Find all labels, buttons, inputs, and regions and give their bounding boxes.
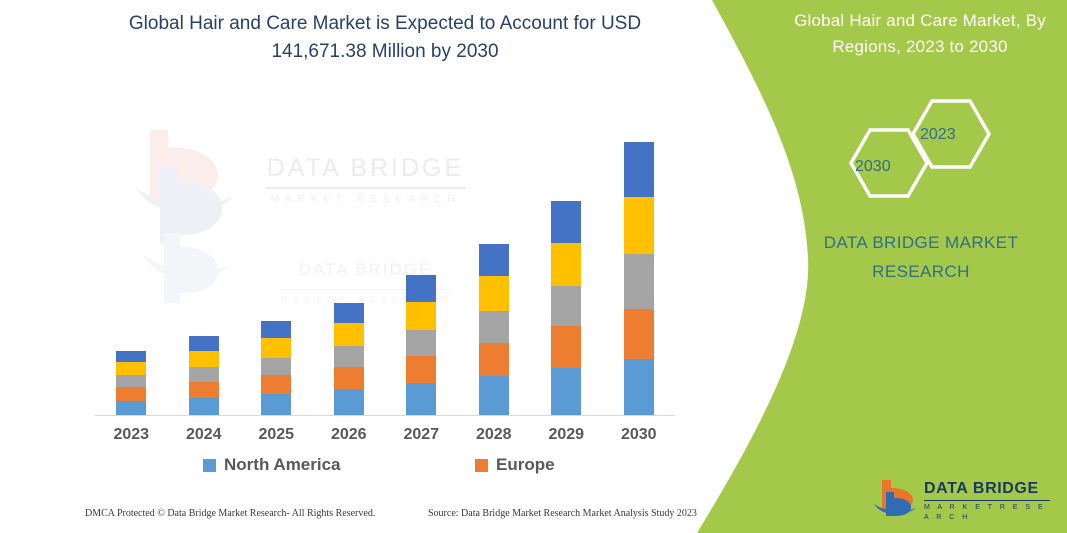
bar-segment (406, 275, 436, 302)
bar-segment (261, 358, 291, 375)
hexagon-2030-label: 2030 (855, 158, 891, 176)
hexagon-badges: 2023 2030 (815, 95, 1015, 205)
bar-segment (261, 338, 291, 357)
bar-segment (116, 362, 146, 375)
x-label-2024: 2024 (174, 426, 234, 444)
footer: DMCA Protected © Data Bridge Market Rese… (0, 506, 700, 528)
x-label-2023: 2023 (101, 426, 161, 444)
bar-segment (334, 389, 364, 415)
bar-segment (624, 254, 654, 309)
bar-segment (334, 346, 364, 367)
bar-segment (261, 375, 291, 393)
bar-segment (624, 197, 654, 254)
x-label-2028: 2028 (464, 426, 524, 444)
x-label-2026: 2026 (319, 426, 379, 444)
bar-segment (189, 351, 219, 367)
legend-swatch-icon (203, 459, 216, 472)
bar-2028[interactable] (479, 244, 509, 415)
bar-segment (624, 142, 654, 197)
bar-segment (551, 243, 581, 287)
bar-2025[interactable] (261, 321, 291, 415)
bar-segment (261, 321, 291, 338)
bar-2027[interactable] (406, 275, 436, 415)
panel-brand-line2: RESEARCH (790, 257, 1052, 286)
legend-item[interactable]: Europe (475, 455, 555, 475)
bar-segment (479, 276, 509, 311)
chart-legend: North AmericaEurope (95, 455, 675, 485)
bar-segment (551, 201, 581, 243)
bar-2030[interactable] (624, 142, 654, 416)
x-label-2027: 2027 (391, 426, 451, 444)
bar-segment (479, 244, 509, 277)
footer-source: Source: Data Bridge Market Research Mark… (428, 508, 697, 519)
infographic-canvas: Global Hair and Care Market, By Regions,… (0, 0, 1067, 533)
legend-swatch-icon (475, 459, 488, 472)
bar-2024[interactable] (189, 336, 219, 415)
footer-copyright: DMCA Protected © Data Bridge Market Rese… (85, 508, 375, 519)
bar-segment (116, 375, 146, 387)
x-label-2030: 2030 (609, 426, 669, 444)
x-axis-line (95, 415, 675, 416)
bar-segment (116, 351, 146, 362)
bar-segment (624, 359, 654, 415)
bar-segment (189, 367, 219, 382)
panel-title: Global Hair and Care Market, By Regions,… (780, 8, 1060, 60)
x-label-2025: 2025 (246, 426, 306, 444)
bar-segment (334, 323, 364, 345)
brand-logo: DATA BRIDGE M A R K E T R E S E A R C H (872, 478, 1052, 520)
bar-segment (406, 330, 436, 356)
stacked-bar-chart (95, 120, 675, 416)
page-title: Global Hair and Care Market is Expected … (120, 10, 650, 66)
bar-2029[interactable] (551, 201, 581, 415)
bar-segment (624, 309, 654, 359)
brand-logo-divider (924, 500, 1050, 501)
legend-label: Europe (496, 455, 555, 475)
bar-segment (116, 401, 146, 415)
brand-logo-mark (872, 478, 920, 518)
brand-logo-sub: M A R K E T R E S E A R C H (924, 503, 1054, 523)
bar-segment (189, 336, 219, 350)
panel-brand: DATA BRIDGE MARKET RESEARCH (790, 228, 1052, 286)
bar-segment (479, 311, 509, 343)
bar-segment (189, 398, 219, 415)
brand-logo-main: DATA BRIDGE (924, 480, 1054, 498)
bar-segment (116, 387, 146, 400)
bar-segment (334, 367, 364, 389)
legend-label: North America (224, 455, 341, 475)
panel-brand-line1: DATA BRIDGE MARKET (790, 228, 1052, 257)
bar-segment (406, 383, 436, 415)
x-axis-labels: 20232024202520262027202820292030 (95, 426, 675, 454)
bar-segment (406, 302, 436, 331)
bar-2026[interactable] (334, 303, 364, 415)
bar-segment (551, 368, 581, 415)
hexagon-2023-label: 2023 (920, 126, 956, 144)
bar-segment (261, 394, 291, 415)
bar-segment (334, 303, 364, 323)
bar-segment (551, 286, 581, 326)
x-label-2029: 2029 (536, 426, 596, 444)
bar-segment (479, 376, 509, 415)
brand-logo-text: DATA BRIDGE M A R K E T R E S E A R C H (924, 480, 1054, 523)
bar-2023[interactable] (116, 351, 146, 415)
legend-item[interactable]: North America (203, 455, 341, 475)
bar-segment (189, 382, 219, 397)
bar-segment (406, 356, 436, 384)
bar-segment (479, 343, 509, 377)
bar-segment (551, 326, 581, 368)
